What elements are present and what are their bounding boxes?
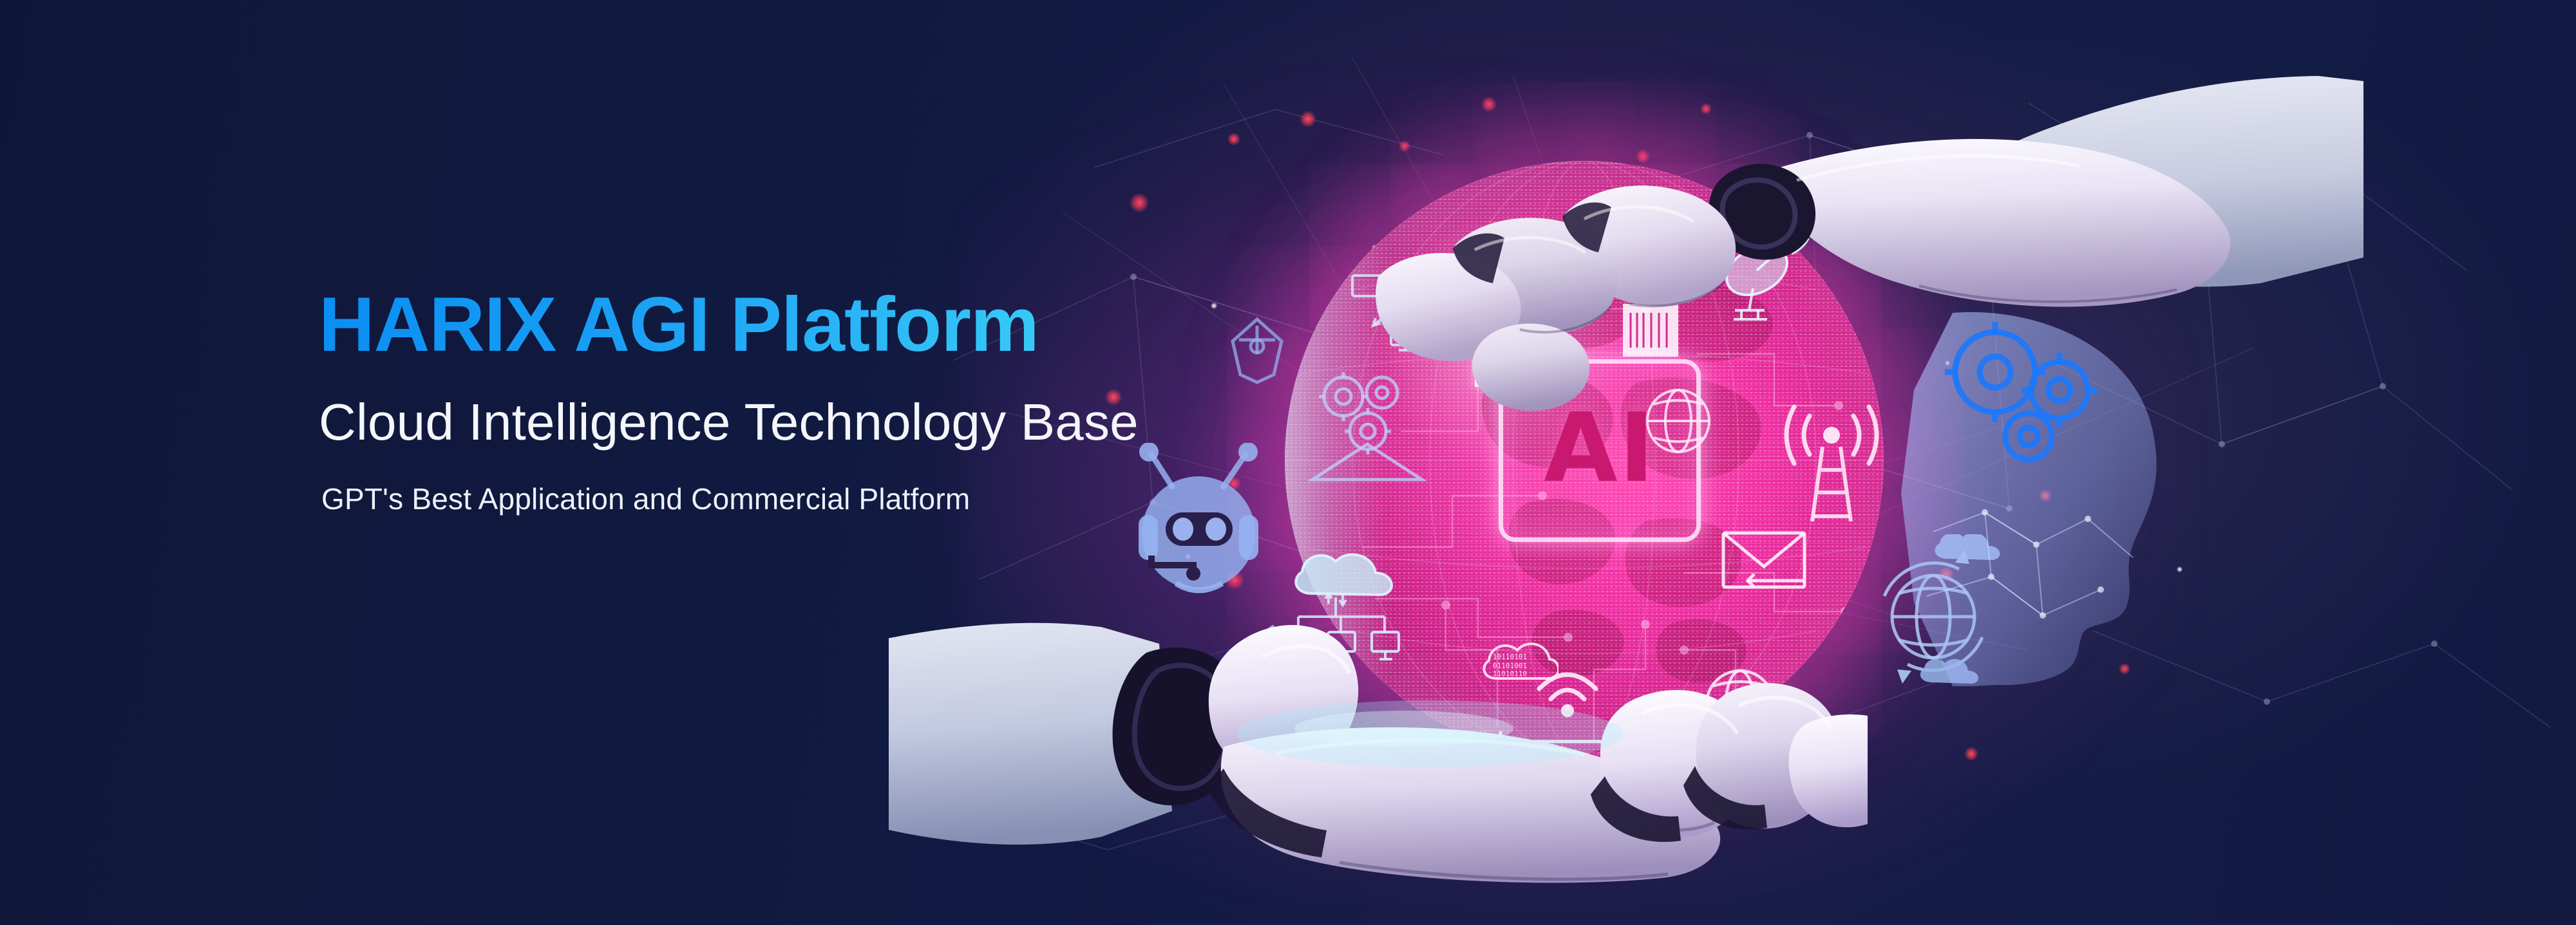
hero-banner: AI: [0, 0, 2576, 925]
page-subtitle: Cloud Intelligence Technology Base: [319, 394, 1285, 451]
hero-text-block: HARIX AGI Platform Cloud Intelligence Te…: [319, 283, 1285, 517]
robot-hand-lower: [889, 618, 1868, 925]
page-tagline: GPT's Best Application and Commercial Pl…: [321, 481, 1285, 517]
robot-hand-upper: [1372, 64, 2363, 425]
envelope-icon: [1718, 527, 1815, 604]
page-title: HARIX AGI Platform: [319, 283, 1285, 367]
